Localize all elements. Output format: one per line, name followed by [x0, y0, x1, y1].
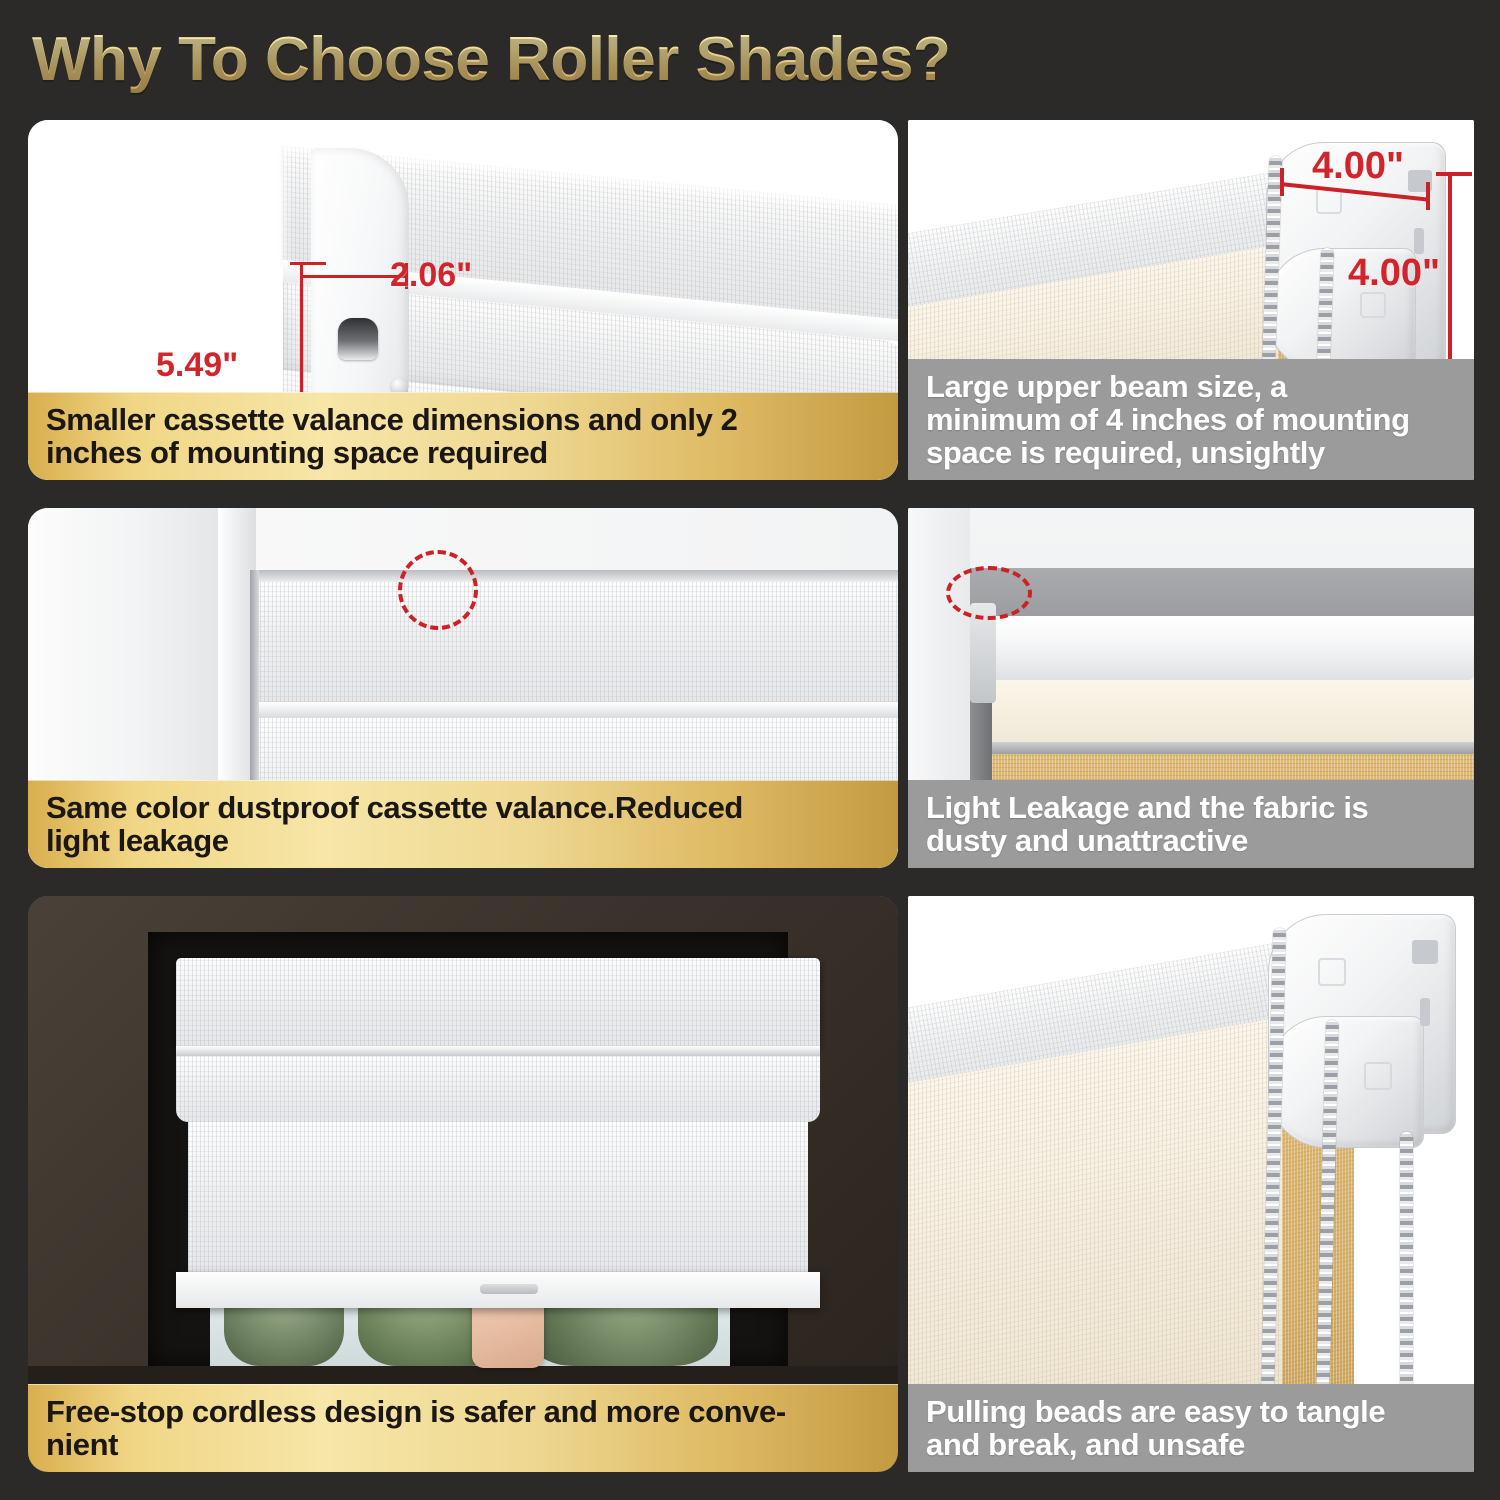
- caption-pro-cassette-size: Smaller cassette valance dimensions and …: [28, 392, 898, 480]
- shade-fabric-cream-band: [968, 680, 1474, 742]
- roller-bracket-lower-cam: [1268, 1016, 1424, 1148]
- beam-height-dimension-label: 4.00": [1348, 252, 1440, 295]
- beam-width-tick-left: [1280, 168, 1284, 196]
- panel-pro-dustproof-valance: smaller gap Same color dustproof cassett…: [28, 508, 898, 868]
- height-dimension-label: 5.49": [156, 346, 238, 385]
- width-dimension-label: 2.06": [390, 256, 472, 295]
- beam-height-dimension-line: [1448, 172, 1452, 372]
- caption-line: inches of mounting space required: [46, 437, 880, 470]
- valance-split-line: [176, 1046, 820, 1056]
- bracket-slot-side-icon: [1420, 998, 1430, 1026]
- caption-line: nient: [46, 1429, 880, 1462]
- valance-bottom-edge: [256, 702, 898, 718]
- highlight-dashed-ellipse: [946, 566, 1032, 620]
- caption-pro-dustproof-valance: Same color dustproof cassette valance.Re…: [28, 780, 898, 868]
- end-cap-roller-port-icon: [338, 318, 378, 360]
- caption-line: dusty and unattractive: [926, 825, 1456, 858]
- cassette-valance-body: [176, 958, 820, 1046]
- panel-pro-cassette-size: 2.06" 5.49" Smaller cassette valance dim…: [28, 120, 898, 480]
- valance-face: [256, 580, 898, 702]
- panel-con-beam-size: 4.00" 4.00" Large upper beam size, a min…: [908, 120, 1474, 480]
- bracket-slot-top-icon: [1412, 940, 1438, 964]
- caption-line: light leakage: [46, 825, 880, 858]
- highlight-dashed-circle: [398, 550, 478, 630]
- caption-line: Same color dustproof cassette valance.Re…: [46, 792, 880, 825]
- page-title: Why To Choose Roller Shades?: [32, 24, 950, 95]
- caption-con-pull-beads: Pulling beads are easy to tangle and bre…: [908, 1384, 1474, 1472]
- panel-con-pull-beads: Pulling beads are easy to tangle and bre…: [908, 896, 1474, 1472]
- bracket-emboss-upper-icon: [1318, 958, 1346, 986]
- roller-tube-white: [968, 616, 1474, 680]
- bracket-emboss-lower-icon: [1364, 1062, 1392, 1090]
- shade-fabric-main: [188, 1122, 808, 1272]
- caption-pro-cordless-design: Free-stop cordless design is safer and m…: [28, 1384, 898, 1472]
- panel-pro-cordless-design: Free-stop cordless design is safer and m…: [28, 896, 898, 1472]
- caption-line: Light Leakage and the fabric is: [926, 792, 1456, 825]
- caption-line: Smaller cassette valance dimensions and …: [46, 404, 880, 437]
- caption-line: Free-stop cordless design is safer and m…: [46, 1396, 880, 1429]
- roller-bottom-edge: [968, 742, 1474, 754]
- beam-width-dimension-label: 4.00": [1312, 145, 1404, 188]
- caption-line: and break, and unsafe: [926, 1429, 1456, 1462]
- caption-line: minimum of 4 inches of mounting: [926, 404, 1456, 437]
- caption-con-light-leakage: Light Leakage and the fabric is dusty an…: [908, 780, 1474, 868]
- caption-line: space is required, unsightly: [926, 437, 1456, 470]
- caption-con-beam-size: Large upper beam size, a minimum of 4 in…: [908, 359, 1474, 480]
- caption-line: Large upper beam size, a: [926, 371, 1456, 404]
- bottom-rail-grip-icon: [480, 1284, 538, 1294]
- header-bar: Why To Choose Roller Shades?: [0, 0, 1500, 118]
- caption-line: Pulling beads are easy to tangle: [926, 1396, 1456, 1429]
- valance-top-rail: [250, 570, 898, 582]
- window-recess-shadow: [968, 568, 1474, 620]
- bracket-slot-mid-icon: [1414, 228, 1424, 254]
- panel-con-light-leakage: Large gap Light Leakage and the fabric i…: [908, 508, 1474, 868]
- valance-lower-roll: [176, 1056, 820, 1122]
- beam-height-tick-top: [1436, 172, 1472, 176]
- height-dimension-tick-top: [290, 262, 326, 265]
- beam-width-tick-right: [1426, 182, 1430, 210]
- bracket-emboss-lower-icon: [1360, 292, 1386, 318]
